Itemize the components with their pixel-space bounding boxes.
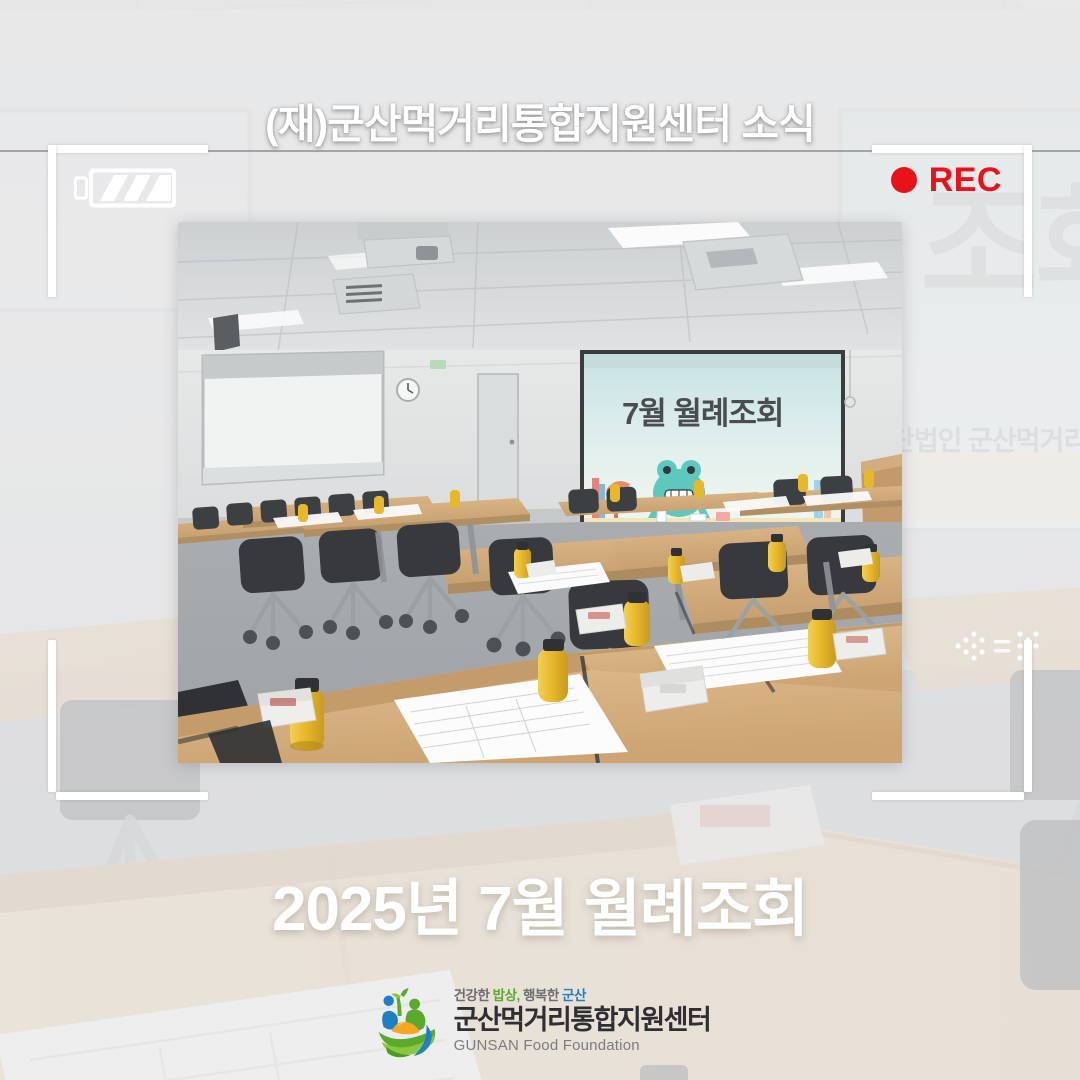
juice-bottle [808, 609, 836, 668]
logo-organization-name: 군산먹거리통합지원센터 [454, 1006, 711, 1034]
gunsan-food-foundation-logo-icon [370, 985, 444, 1059]
battery-icon [74, 168, 176, 208]
headline-text: 2025년 7월 월례조회 [0, 858, 1080, 948]
poster-canvas: 조회 단법인 군산먹거리통합지원센터 [0, 0, 1080, 1080]
snack-box [833, 628, 886, 660]
rec-indicator: REC [891, 163, 1002, 197]
logo-tagline-part4: 군산 [562, 988, 586, 1003]
logo-tagline-part2: 밥상, [493, 988, 520, 1003]
record-dot-icon [891, 167, 917, 193]
logo-tagline: 건강한 밥상, 행복한 군산 [454, 989, 711, 1004]
logo-subtitle: GUNSAN Food Foundation [454, 1037, 711, 1055]
rec-label: REC [929, 163, 1002, 197]
page-title: (재)군산먹거리통합지원센터 소식 [0, 90, 1080, 150]
meeting-room-photo: 7월 월례조회 [178, 222, 902, 763]
featured-photo: 7월 월례조회 [178, 222, 902, 763]
dot-pattern-icon [952, 628, 1044, 664]
screen-title-text: 7월 월례조회 [622, 396, 783, 431]
logo-tagline-part3: 행복한 [523, 988, 559, 1003]
logo-tagline-part1: 건강한 [454, 988, 490, 1003]
organization-logo: 건강한 밥상, 행복한 군산 군산먹거리통합지원센터 GUNSAN Food F… [370, 985, 711, 1059]
